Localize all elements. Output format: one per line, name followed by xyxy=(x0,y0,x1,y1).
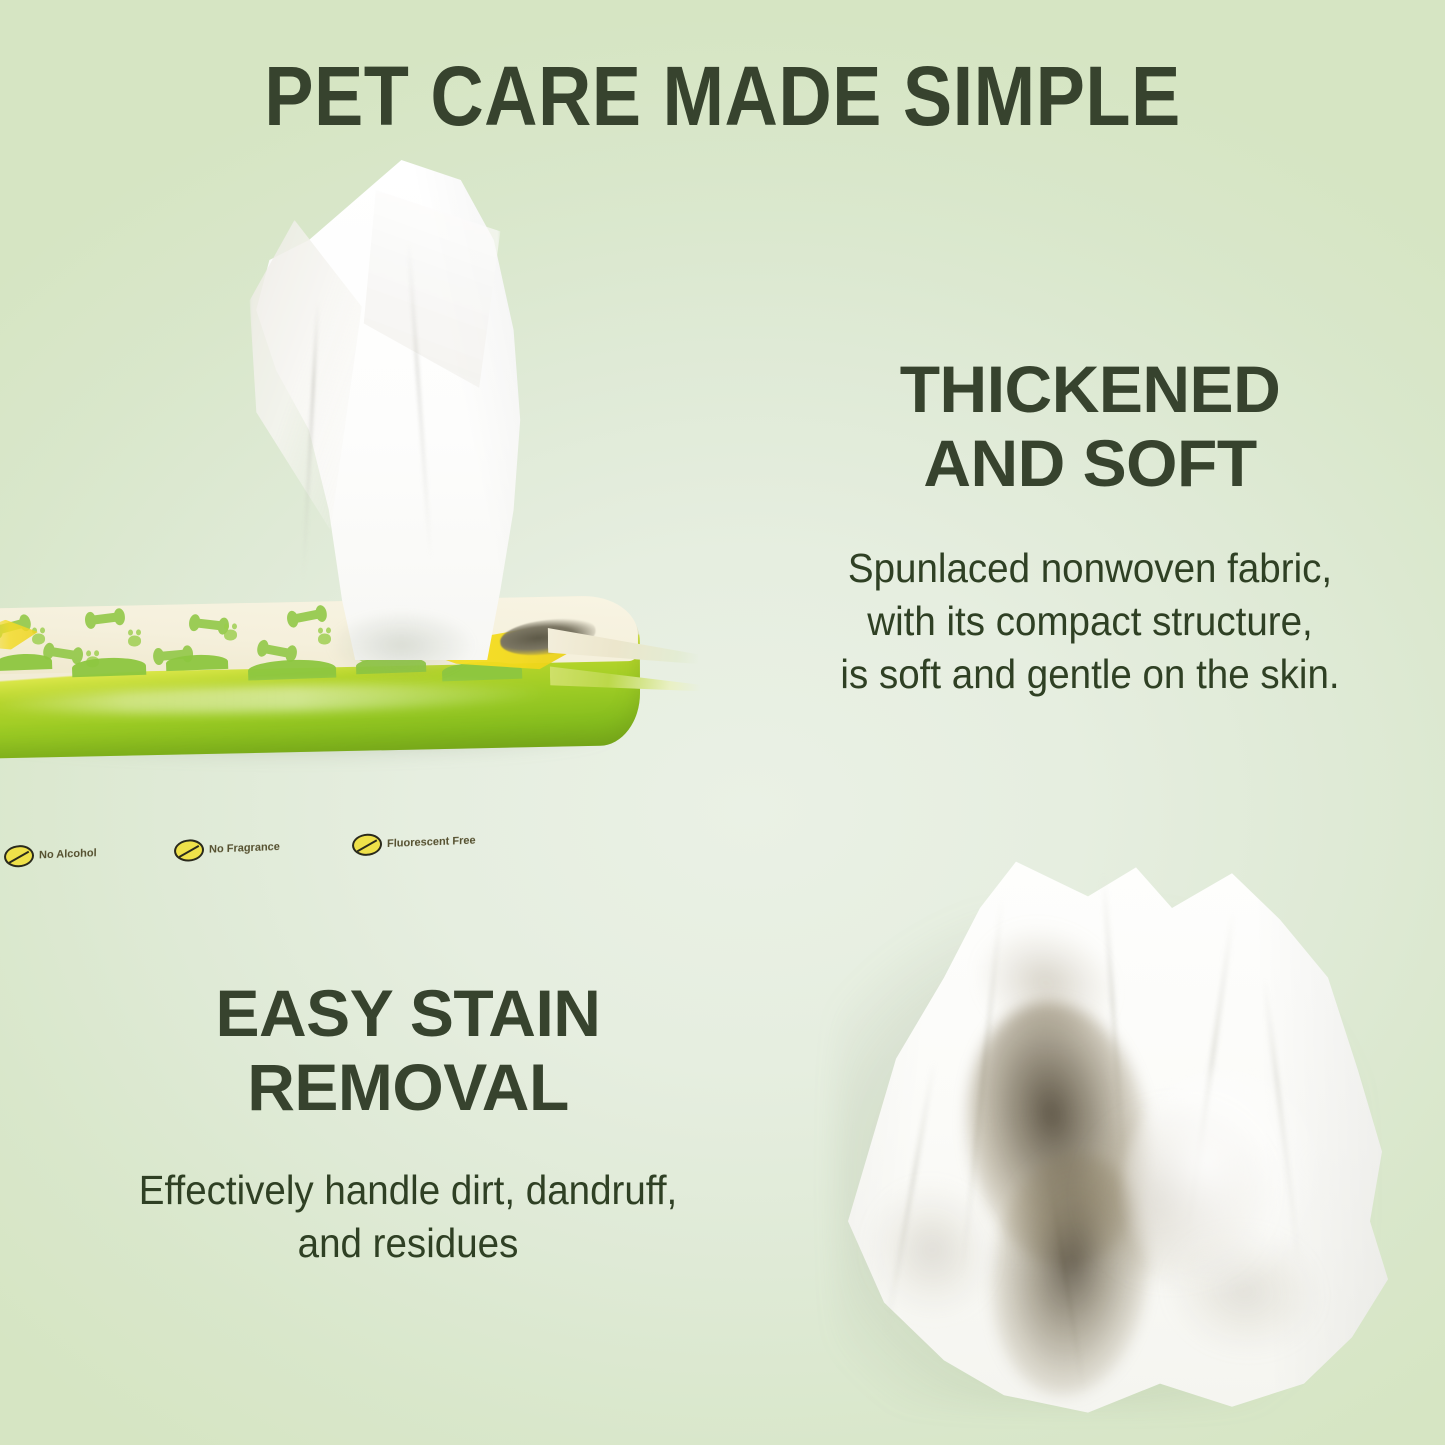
claim-no-alcohol: No Alcohol xyxy=(4,842,97,868)
paw-print-icon xyxy=(32,633,45,644)
feature-body-line2: with its compact structure, xyxy=(867,598,1313,644)
feature-body-line2: and residues xyxy=(298,1220,519,1266)
feature-heading-line2: REMOVAL xyxy=(247,1050,569,1124)
feature-thickened-and-soft: THICKENED AND SOFT Spunlaced nonwoven fa… xyxy=(760,352,1420,701)
claim-fluorescent-free: Fluorescent Free xyxy=(352,830,476,857)
no-fragrance-icon xyxy=(174,839,204,862)
page-title: PET CARE MADE SIMPLE xyxy=(87,50,1359,142)
bone-icon xyxy=(90,612,121,625)
feature-body: Spunlaced nonwoven fabric, with its comp… xyxy=(780,542,1400,701)
paw-print-icon xyxy=(128,635,141,646)
claim-label: No Fragrance xyxy=(209,841,280,856)
feature-body: Effectively handle dirt, dandruff, and r… xyxy=(60,1164,756,1270)
feature-body-line1: Spunlaced nonwoven fabric, xyxy=(848,545,1332,591)
claim-label: Fluorescent Free xyxy=(387,835,476,850)
feature-heading-line1: EASY STAIN xyxy=(216,976,601,1050)
bone-icon xyxy=(48,647,79,660)
feature-easy-stain-removal: EASY STAIN REMOVAL Effectively handle di… xyxy=(38,976,778,1270)
claim-no-fragrance: No Fragrance xyxy=(174,836,280,862)
clean-wipe-image xyxy=(210,160,540,660)
product-feature-poster: PET CARE MADE SIMPLE xyxy=(0,0,1445,1445)
feature-body-line3: is soft and gentle on the skin. xyxy=(840,651,1339,697)
no-alcohol-icon xyxy=(4,845,34,868)
feature-heading-line1: THICKENED xyxy=(900,352,1281,426)
product-pack-image: No Alcohol No Fragrance Fluorescent Free xyxy=(0,150,700,800)
wipe-base-shadow xyxy=(329,610,474,680)
fluorescent-free-icon xyxy=(352,833,382,856)
feature-heading: THICKENED AND SOFT xyxy=(760,352,1420,500)
claim-label: No Alcohol xyxy=(39,847,97,861)
grass-shape xyxy=(0,653,52,671)
cloth-highlight xyxy=(1124,1070,1328,1302)
feature-heading: EASY STAIN REMOVAL xyxy=(38,976,778,1124)
dirty-wipe-image xyxy=(800,850,1400,1430)
feature-body-line1: Effectively handle dirt, dandruff, xyxy=(139,1167,677,1213)
feature-heading-line2: AND SOFT xyxy=(923,426,1256,500)
